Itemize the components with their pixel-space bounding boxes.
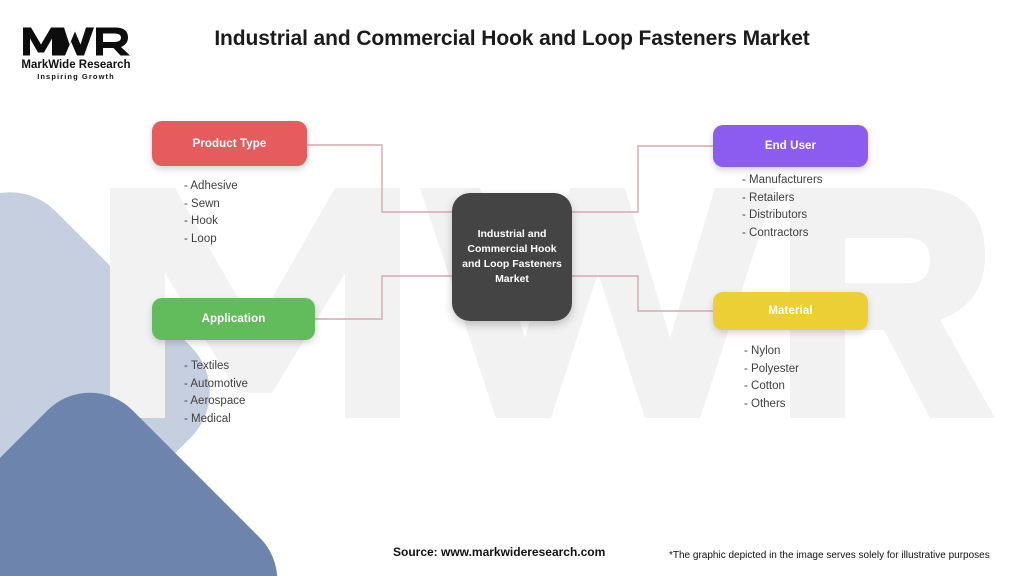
page-title: Industrial and Commercial Hook and Loop … [0,27,1024,51]
list-item: - Distributors [742,207,823,225]
center-node: Industrial and Commercial Hook and Loop … [452,193,572,321]
list-material: - Nylon - Polyester - Cotton - Others [744,343,799,413]
list-item: - Loop [184,231,238,249]
infographic-canvas: MarkWide Research Inspiring Growth Indus… [0,0,1024,576]
connector-product-type [307,145,452,212]
source-text: Source: www.markwideresearch.com [393,545,605,559]
list-item: - Nylon [744,343,799,361]
list-item: - Medical [184,411,248,429]
list-item: - Cotton [744,378,799,396]
list-item: - Hook [184,213,238,231]
node-end-user[interactable]: End User [713,125,868,167]
list-item: - Others [744,396,799,414]
center-node-label: Industrial and Commercial Hook and Loop … [452,227,572,288]
node-application[interactable]: Application [152,298,315,340]
logo-company-name: MarkWide Research [12,59,140,71]
node-application-label: Application [202,313,266,325]
logo-tagline: Inspiring Growth [12,72,140,81]
list-item: - Textiles [184,358,248,376]
connector-end-user [572,146,713,212]
connector-application [315,276,452,319]
list-item: - Sewn [184,196,238,214]
node-material-label: Material [768,305,812,317]
node-end-user-label: End User [765,140,816,152]
node-product-type[interactable]: Product Type [152,121,307,166]
node-product-type-label: Product Type [193,138,267,150]
list-application: - Textiles - Automotive - Aerospace - Me… [184,358,248,428]
list-item: - Polyester [744,361,799,379]
connector-material [572,276,713,311]
list-item: - Aerospace [184,393,248,411]
list-product-type: - Adhesive - Sewn - Hook - Loop [184,178,238,248]
list-item: - Contractors [742,225,823,243]
list-item: - Adhesive [184,178,238,196]
list-item: - Automotive [184,376,248,394]
list-end-user: - Manufacturers - Retailers - Distributo… [742,172,823,242]
node-material[interactable]: Material [713,292,868,330]
list-item: - Retailers [742,190,823,208]
list-item: - Manufacturers [742,172,823,190]
disclaimer-text: *The graphic depicted in the image serve… [669,550,990,561]
